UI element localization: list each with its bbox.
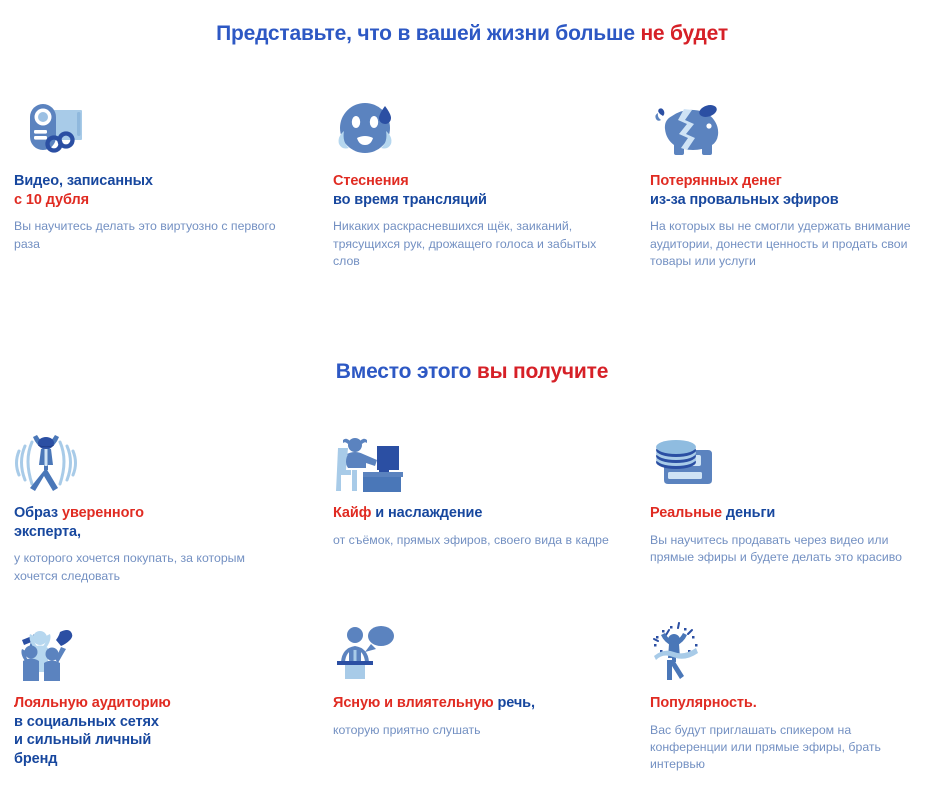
section-heading-blue-part: Вместо этого bbox=[336, 360, 477, 383]
card-title-line-2: эксперта, bbox=[14, 524, 81, 540]
card-description: Вас будут приглашать спикером на конфере… bbox=[650, 722, 914, 774]
card-title-word-1: Ясную и влиятельную bbox=[333, 695, 498, 711]
card-title: Лояльную аудиторию в социальных сетях и … bbox=[14, 694, 290, 768]
card-title-line-3: и сильный личный bbox=[14, 732, 151, 748]
card-title-line-1: Лояльную аудиторию bbox=[14, 695, 171, 711]
cheering-crowd-icon bbox=[14, 622, 290, 684]
card-video-takes: Видео, записанных с 10 дубля Вы научитес… bbox=[0, 100, 320, 270]
video-camera-loop-icon bbox=[14, 100, 290, 162]
card-title-line-2: с 10 дубля bbox=[14, 192, 89, 208]
card-title-word-1: Реальные bbox=[650, 505, 722, 521]
card-title: Популярность. bbox=[650, 694, 914, 713]
card-description: Вы научитесь делать это виртуозно с перв… bbox=[14, 218, 290, 253]
card-clear-speech: Ясную и влиятельную речь, которую приятн… bbox=[320, 622, 640, 777]
card-description: которую приятно слушать bbox=[333, 722, 610, 739]
card-real-money: Реальные деньги Вы научитесь продавать ч… bbox=[640, 432, 944, 585]
section-heading-losses: Представьте, что в вашей жизни больше не… bbox=[0, 22, 944, 46]
section-heading-red-part: вы получите bbox=[477, 360, 608, 383]
section-heading-blue-part: Представьте, что в вашей жизни больше bbox=[216, 22, 640, 45]
card-title-word-1: Кайф bbox=[333, 505, 371, 521]
card-description: у которого хочется покупать, за которым … bbox=[14, 550, 290, 585]
celebrating-person-confetti-icon bbox=[650, 622, 914, 684]
card-title-line-1: Потерянных денег bbox=[650, 173, 782, 189]
card-title-word-1: Образ bbox=[14, 505, 62, 521]
card-title-word-1: Популярность. bbox=[650, 695, 757, 711]
card-title-line-2: в социальных сетях bbox=[14, 714, 159, 730]
card-confident-expert: Образ уверенного эксперта, у которого хо… bbox=[0, 432, 320, 585]
speaker-podium-icon bbox=[333, 622, 610, 684]
card-title-line-4: бренд bbox=[14, 751, 57, 767]
card-title-line-1: Видео, записанных bbox=[14, 173, 153, 189]
card-title-word-2: и наслаждение bbox=[371, 505, 482, 521]
benefits-row-gains-1: Образ уверенного эксперта, у которого хо… bbox=[0, 432, 944, 585]
card-title: Видео, записанных с 10 дубля bbox=[14, 172, 290, 209]
section-heading-red-part: не будет bbox=[640, 22, 727, 45]
card-title-word-2: речь, bbox=[498, 695, 535, 711]
card-loyal-audience: Лояльную аудиторию в социальных сетях и … bbox=[0, 622, 320, 777]
benefits-row-gains-2: Лояльную аудиторию в социальных сетях и … bbox=[0, 622, 944, 777]
section-heading-gains: Вместо этого вы получите bbox=[0, 360, 944, 384]
card-title: Стеснения во время трансляций bbox=[333, 172, 610, 209]
card-title: Реальные деньги bbox=[650, 504, 914, 523]
coins-credit-card-icon bbox=[650, 432, 914, 494]
card-title: Кайф и наслаждение bbox=[333, 504, 610, 523]
card-title-line-2: из-за провальных эфиров bbox=[650, 192, 839, 208]
card-title: Ясную и влиятельную речь, bbox=[333, 694, 610, 713]
broken-piggy-bank-icon bbox=[650, 100, 914, 162]
card-stage-fright: Стеснения во время трансляций Никаких ра… bbox=[320, 100, 640, 270]
relaxed-person-at-desk-icon bbox=[333, 432, 610, 494]
card-popularity: Популярность. Вас будут приглашать спике… bbox=[640, 622, 944, 777]
card-title-word-2: деньги bbox=[722, 505, 775, 521]
card-description: Вы научитесь продавать через видео или п… bbox=[650, 532, 914, 567]
card-enjoyment: Кайф и наслаждение от съёмок, прямых эфи… bbox=[320, 432, 640, 585]
benefits-row-losses: Видео, записанных с 10 дубля Вы научитес… bbox=[0, 100, 944, 270]
card-description: Никаких раскрасневшихся щёк, заиканий, т… bbox=[333, 218, 610, 270]
card-title: Образ уверенного эксперта, bbox=[14, 504, 290, 541]
anxious-sweating-face-icon bbox=[333, 100, 610, 162]
card-title: Потерянных денег из-за провальных эфиров bbox=[650, 172, 914, 209]
card-title-line-1: Стеснения bbox=[333, 173, 409, 189]
card-lost-money: Потерянных денег из-за провальных эфиров… bbox=[640, 100, 944, 270]
card-description: от съёмок, прямых эфиров, своего вида в … bbox=[333, 532, 610, 549]
card-description: На которых вы не смогли удержать внимани… bbox=[650, 218, 914, 270]
card-title-word-2: уверенного bbox=[62, 505, 144, 521]
landing-page-benefits: Представьте, что в вашей жизни больше не… bbox=[0, 0, 944, 800]
card-title-line-2: во время трансляций bbox=[333, 192, 487, 208]
confident-person-radiating-icon bbox=[14, 432, 290, 494]
